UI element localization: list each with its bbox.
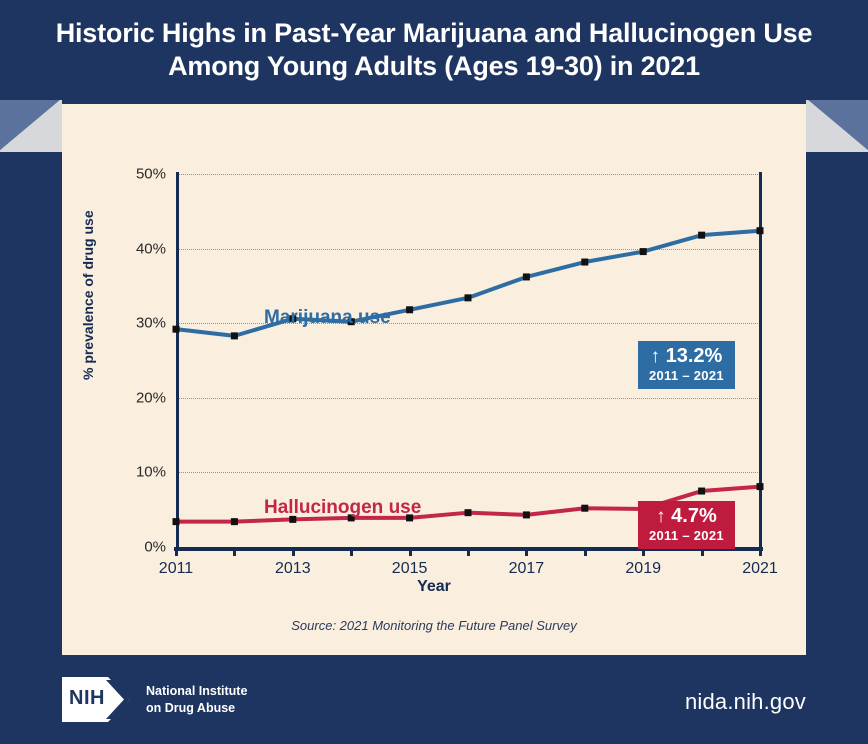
y-tick-label: 40% [136, 240, 166, 257]
callout-range: 2011 – 2021 [649, 529, 724, 542]
x-tick-mark [292, 547, 295, 556]
y-tick-label: 50% [136, 166, 166, 183]
data-point-marker [465, 294, 472, 301]
ribbon-fold-left-decoration [0, 100, 62, 152]
nih-logo-line2: on Drug Abuse [146, 700, 247, 717]
data-point-marker [523, 273, 530, 280]
x-tick-mark [409, 547, 412, 556]
y-tick-label: 30% [136, 315, 166, 332]
y-tick-label: 10% [136, 464, 166, 481]
y-tick-label: 20% [136, 389, 166, 406]
data-point-marker [698, 232, 705, 239]
x-tick-label: 2011 [159, 560, 193, 578]
x-axis-title: Year [62, 578, 806, 596]
data-point-marker [173, 326, 180, 333]
x-tick-mark [525, 547, 528, 556]
data-point-marker [698, 488, 705, 495]
data-point-marker [231, 518, 238, 525]
series-label-hallucinogen: Hallucinogen use [264, 497, 421, 519]
x-tick-mark [584, 547, 587, 556]
up-arrow-icon: ↑ [656, 506, 666, 527]
nida-website-url[interactable]: nida.nih.gov [685, 689, 806, 715]
callout-range: 2011 – 2021 [649, 369, 724, 382]
x-tick-mark [467, 547, 470, 556]
x-tick-mark [233, 547, 236, 556]
nih-logo-line1: National Institute [146, 683, 247, 700]
y-tick-label: 0% [144, 539, 166, 556]
data-point-marker [640, 248, 647, 255]
callout-marijuana-change: ↑ 13.2% 2011 – 2021 [638, 341, 735, 389]
x-tick-label: 2015 [392, 560, 428, 578]
infographic-root: Historic Highs in Past-Year Marijuana an… [0, 0, 868, 744]
x-tick-label: 2017 [509, 560, 545, 578]
callout-hallucinogen-change: ↑ 4.7% 2011 – 2021 [638, 501, 735, 549]
data-point-marker [757, 483, 764, 490]
data-point-marker [757, 227, 764, 234]
data-point-marker [465, 509, 472, 516]
callout-value: 13.2% [666, 345, 723, 367]
data-point-marker [406, 306, 413, 313]
x-tick-mark [175, 547, 178, 556]
x-tick-label: 2019 [625, 560, 661, 578]
up-arrow-icon: ↑ [651, 346, 661, 367]
data-point-marker [523, 511, 530, 518]
nih-logo[interactable]: NIH National Institute on Drug Abuse [62, 677, 247, 722]
y-axis-title: % prevalence of drug use [80, 210, 96, 380]
nih-logo-mark-icon: NIH [62, 677, 134, 722]
callout-value: 4.7% [671, 505, 717, 527]
chart-panel: % prevalence of drug use 0%10%20%30%40%5… [62, 104, 806, 655]
page-title: Historic Highs in Past-Year Marijuana an… [30, 17, 839, 83]
data-point-marker [173, 518, 180, 525]
data-point-marker [581, 505, 588, 512]
x-tick-label: 2013 [275, 560, 311, 578]
plot-area: 0%10%20%30%40%50% 2011201320152017201920… [176, 174, 760, 547]
x-tick-label: 2021 [742, 560, 778, 578]
series-label-marijuana: Marijuana use [264, 307, 391, 329]
ribbon-fold-right-decoration [806, 100, 868, 152]
data-point-marker [231, 332, 238, 339]
x-tick-mark [759, 547, 762, 556]
x-tick-mark [350, 547, 353, 556]
data-point-marker [581, 259, 588, 266]
nih-logo-text: NIH [69, 687, 105, 710]
title-banner: Historic Highs in Past-Year Marijuana an… [0, 0, 868, 100]
nih-logo-wordmark: National Institute on Drug Abuse [146, 683, 247, 716]
footer-bar: NIH National Institute on Drug Abuse nid… [0, 655, 868, 744]
source-note: Source: 2021 Monitoring the Future Panel… [62, 618, 806, 633]
